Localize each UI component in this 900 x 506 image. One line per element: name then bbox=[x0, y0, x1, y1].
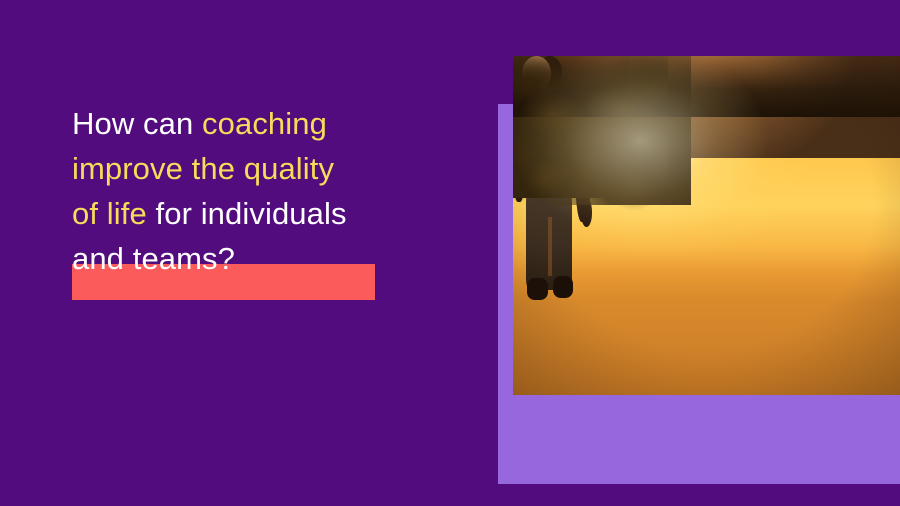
hero-photo bbox=[513, 56, 900, 395]
slide-canvas: How can coachingimprove the qualityof li… bbox=[0, 0, 900, 506]
photo-vignette bbox=[513, 56, 900, 395]
headline-line-2: improve the quality bbox=[72, 146, 472, 191]
headline-line-4: and teams? bbox=[72, 236, 472, 281]
headline-run-2-1: improve the quality bbox=[72, 151, 334, 186]
headline-line-1: How can coaching bbox=[72, 101, 472, 146]
headline-run-1-1: How can bbox=[72, 106, 202, 141]
headline-run-3-1: of life bbox=[72, 196, 147, 231]
headline-run-1-2: coaching bbox=[202, 106, 327, 141]
headline-run-4-1: and teams? bbox=[72, 241, 235, 276]
headline: How can coachingimprove the qualityof li… bbox=[72, 101, 472, 281]
headline-line-3: of life for individuals bbox=[72, 191, 472, 236]
headline-run-3-2: for individuals bbox=[147, 196, 347, 231]
